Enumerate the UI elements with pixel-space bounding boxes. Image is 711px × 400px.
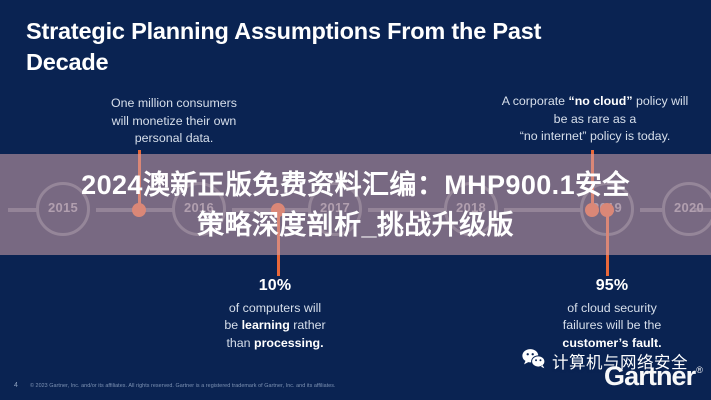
callout-line: be: [224, 318, 241, 332]
registered-mark-icon: ®: [696, 365, 702, 375]
overlay-line-1: 2024澳新正版免费资料汇编：MHP900.1安全: [81, 166, 630, 204]
callout-line: failures will be the: [563, 318, 661, 332]
overlay-banner-text: 2024澳新正版免费资料汇编：MHP900.1安全 策略深度剖析_挑战升级版: [0, 156, 711, 254]
callout-line: One million consumers: [111, 96, 237, 110]
callout-top-left: One million consumers will monetize thei…: [56, 95, 292, 148]
callout-emphasis: learning: [242, 318, 290, 332]
wechat-icon: [522, 348, 546, 374]
gartner-logo-text: Gartner: [604, 361, 695, 391]
callout-bottom-right: 95% of cloud security failures will be t…: [522, 275, 702, 353]
callout-line: will monetize their own: [112, 114, 237, 128]
callout-bottom-left: 10% of computers will be learning rather…: [170, 275, 380, 353]
callout-line: personal data.: [135, 131, 214, 145]
callout-emphasis: processing.: [254, 336, 324, 350]
copyright-notice: © 2023 Gartner, Inc. and/or its affiliat…: [30, 383, 336, 389]
callout-line: A corporate: [502, 94, 569, 108]
gartner-logo: Gartner®: [604, 361, 701, 392]
callout-emphasis: “no cloud”: [569, 94, 633, 108]
callout-line: than: [226, 336, 254, 350]
callout-line: of computers will: [229, 301, 321, 315]
callout-line: “no internet” policy is today.: [520, 129, 671, 143]
slide-title: Strategic Planning Assumptions From the …: [26, 16, 546, 78]
callout-statistic: 10%: [170, 275, 380, 298]
callout-top-right: A corporate “no cloud” policy will be as…: [495, 93, 695, 146]
callout-line: of cloud security: [567, 301, 657, 315]
page-number: 4: [14, 382, 18, 389]
callout-statistic: 95%: [522, 275, 702, 298]
footer: 4 © 2023 Gartner, Inc. and/or its affili…: [14, 382, 336, 389]
slide-canvas: Strategic Planning Assumptions From the …: [0, 0, 711, 400]
overlay-line-2: 策略深度剖析_挑战升级版: [197, 206, 514, 244]
callout-line: rather: [290, 318, 326, 332]
